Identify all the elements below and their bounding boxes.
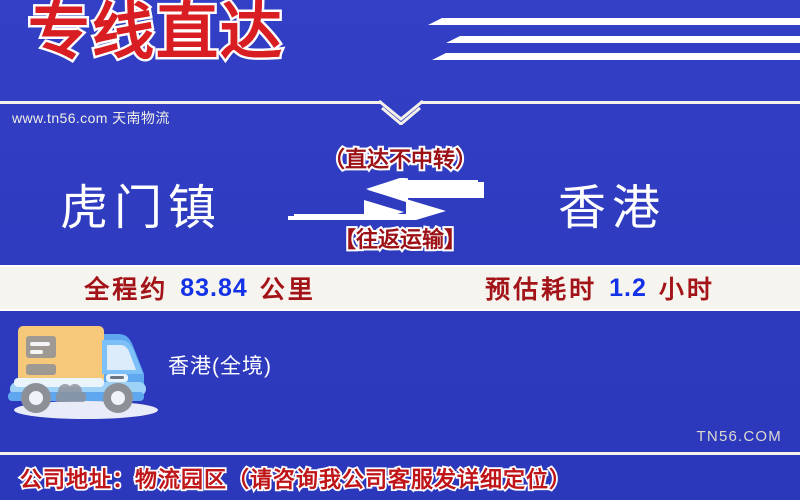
footer-bar: 公司地址：物流园区（请咨询我公司客服发详细定位）	[0, 455, 800, 500]
distance-label: 全程约	[84, 270, 168, 306]
duration-value: 1.2	[609, 274, 647, 303]
speed-stripe-2-icon	[446, 36, 800, 43]
destination-city-label: 香港	[558, 168, 666, 238]
duration-cell: 预估耗时 1.2 小时	[400, 270, 800, 306]
watermark-label: TN56.COM	[697, 428, 782, 445]
double-chevron-down-icon	[378, 99, 424, 125]
distance-unit: 公里	[260, 270, 316, 306]
headline-title: 专线直达	[28, 2, 284, 64]
coverage-area-label: 香港(全境)	[168, 350, 272, 380]
header-rule-right	[420, 101, 800, 104]
round-trip-badge: 【往返运输】	[334, 222, 466, 254]
duration-label: 预估耗时	[485, 270, 597, 306]
origin-city-label: 虎门镇	[60, 168, 222, 238]
route-info-bar: 全程约 83.84 公里 预估耗时 1.2 小时	[0, 265, 800, 311]
site-url-label: www.tn56.com 天南物流	[12, 108, 170, 128]
duration-unit: 小时	[659, 270, 715, 306]
bidirectional-arrow-icon	[288, 178, 484, 220]
header-rule-left	[0, 101, 382, 104]
distance-cell: 全程约 83.84 公里	[0, 270, 400, 306]
delivery-truck-icon	[6, 312, 166, 420]
speed-stripe-3-icon	[432, 53, 800, 60]
direct-no-transfer-badge: （直达不中转）	[323, 142, 477, 174]
logistics-route-banner: 专线直达 专线直达 www.tn56.com 天南物流 虎门镇 香港 （直达不中…	[0, 0, 800, 500]
company-address-label: 公司地址：物流园区（请咨询我公司客服发详细定位）	[20, 462, 572, 494]
distance-value: 83.84	[180, 274, 248, 303]
speed-stripe-1-icon	[428, 18, 800, 25]
